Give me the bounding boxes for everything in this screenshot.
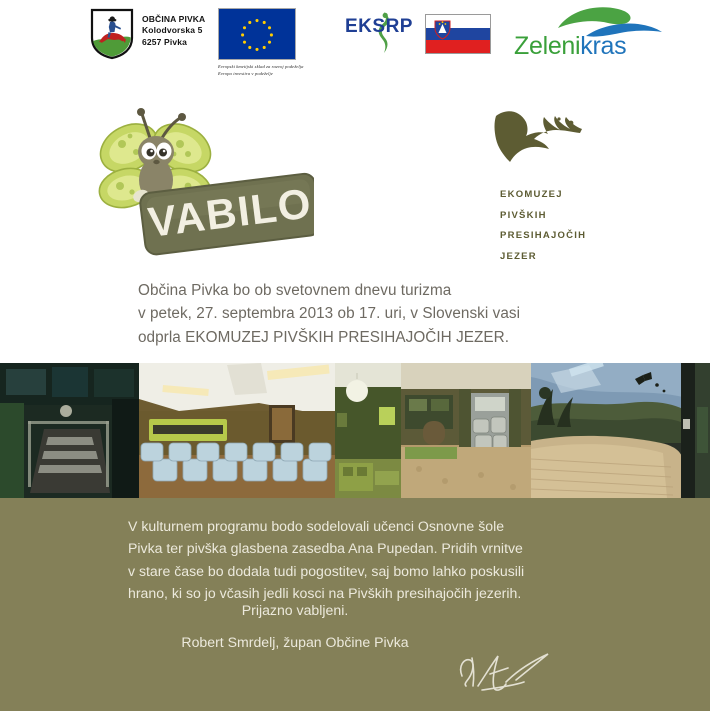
closing-greeting: Prijazno vabljeni. [0, 600, 710, 622]
ekomuzej-line-4: JEZER [500, 252, 586, 262]
eksrp-logo: EKSRP [345, 16, 419, 56]
invitation-page: OBČINA PIVKA Kolodvorska 5 6257 Pivka [0, 0, 710, 711]
butterfly-mascot-icon: VABILO [84, 100, 314, 260]
zelenikras-word-part2: kras [580, 32, 626, 60]
invitation-line-2: v petek, 27. septembra 2013 ob 17. uri, … [138, 302, 608, 325]
eksrp-label: EKSRP [345, 16, 419, 38]
program-line-2: Pivka ter pivška glasbena zasedba Ana Pu… [128, 537, 588, 559]
butterfly-silhouette-icon [494, 108, 586, 184]
eu-flag-icon [218, 8, 296, 60]
program-panel: V kulturnem programu bodo sodelovali uče… [0, 498, 710, 711]
logo-bar: OBČINA PIVKA Kolodvorska 5 6257 Pivka [0, 0, 710, 72]
ocina-city: 6257 Pivka [142, 37, 205, 48]
program-line-3: v stare čase bo dodala tudi pogostitev, … [128, 560, 588, 582]
eu-funding-caption: Evropski kmetijski sklad za razvoj podež… [218, 63, 330, 77]
ocina-pivka-address: OBČINA PIVKA Kolodvorska 5 6257 Pivka [142, 8, 205, 48]
slovenia-flag-logo [425, 14, 491, 54]
photo-5-art [531, 363, 710, 498]
eu-funding-logo: Evropski kmetijski sklad za razvoj podež… [218, 8, 330, 77]
ekomuzej-logo: EKOMUZEJ PIVŠKIH PRESIHAJOČIH JEZER [498, 108, 668, 258]
invitation-line-3: odprla EKOMUZEJ PIVŠKIH PRESIHAJOČIH JEZ… [138, 326, 608, 349]
zelenikras-logo: Zelenikras [512, 6, 662, 64]
handwritten-signature-icon [452, 646, 572, 694]
invitation-line-1: Občina Pivka bo ob svetovnem dnevu turiz… [138, 279, 608, 302]
program-text: V kulturnem programu bodo sodelovali uče… [128, 515, 588, 604]
program-line-1: V kulturnem programu bodo sodelovali uče… [128, 515, 588, 537]
photo-4-art [401, 363, 531, 498]
vabilo-mascot-block: VABILO [84, 100, 314, 260]
zelenikras-word-part1: Zeleni [514, 32, 580, 60]
closing-block: Prijazno vabljeni. Robert Smrdelj, župan… [0, 600, 710, 654]
museum-stairwell-exhibit-photo [0, 363, 139, 498]
ocina-name: OBČINA PIVKA [142, 14, 205, 25]
ocina-pivka-logo: OBČINA PIVKA Kolodvorska 5 6257 Pivka [90, 8, 205, 60]
green-room-chandelier-photo [335, 363, 401, 498]
lecture-hall-blue-chairs-photo [139, 363, 335, 498]
photo-1-art [0, 363, 139, 498]
photo-3-art [335, 363, 401, 498]
eu-caption-line2: Evropa investira v podeželje [218, 70, 330, 77]
eu-caption-line1: Evropski kmetijski sklad za razvoj podež… [218, 63, 330, 70]
photo-2-art [139, 363, 335, 498]
ekomuzej-wordmark: EKOMUZEJ PIVŠKIH PRESIHAJOČIH JEZER [500, 190, 586, 272]
flag-band-red [426, 40, 490, 53]
photo-strip [0, 363, 710, 498]
slovenia-flag-icon [425, 14, 491, 54]
zelenikras-wordmark: Zelenikras [514, 32, 626, 61]
ekomuzej-line-2: PIVŠKIH [500, 211, 586, 221]
invitation-text: Občina Pivka bo ob svetovnem dnevu turiz… [138, 279, 608, 349]
landscape-diorama-photo [531, 363, 710, 498]
closing-signer: Robert Smrdelj, župan Občine Pivka [0, 632, 710, 654]
ekomuzej-line-3: PRESIHAJOČIH [500, 231, 586, 241]
ocina-street: Kolodvorska 5 [142, 25, 205, 36]
slovenia-crest-icon [434, 19, 451, 40]
rock-display-exhibition-photo [401, 363, 531, 498]
eu-stars-icon [219, 9, 295, 59]
pivka-coat-of-arms-icon [90, 8, 134, 60]
ekomuzej-line-1: EKOMUZEJ [500, 190, 586, 200]
